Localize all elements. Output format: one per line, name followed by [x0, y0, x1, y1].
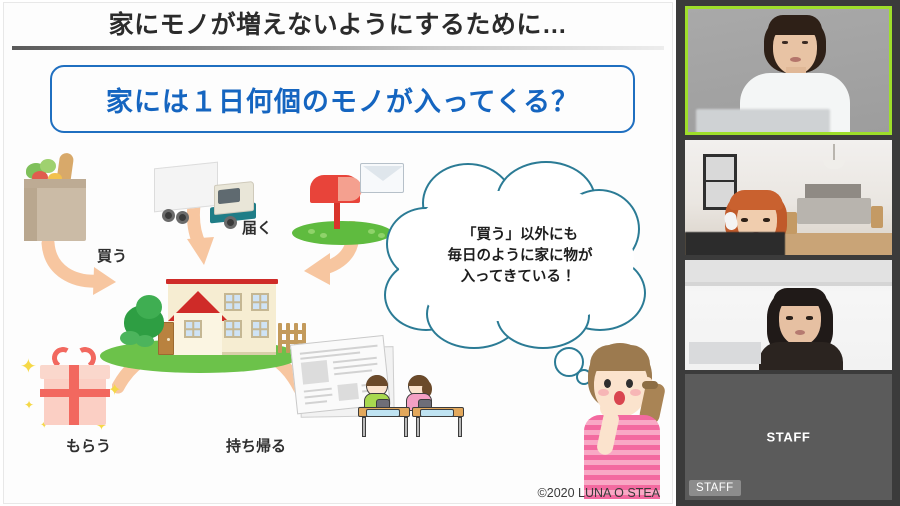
- tile-4-center-label: STAFF: [685, 430, 892, 445]
- label-bring-home: 持ち帰る: [226, 435, 286, 456]
- participant-video-panel: STAFF STAFF: [676, 0, 900, 506]
- gift-box-illustration: ✦ ✦ ✦ ✦ ✦: [20, 343, 130, 437]
- tile-3-person-body: [759, 342, 843, 370]
- shared-slide: 家にモノが増えないようにするために… 家には１日何個のモノが入ってくる？: [0, 0, 676, 506]
- title-divider: [12, 46, 664, 50]
- screen-share-meeting-view: 家にモノが増えないようにするために… 家には１日何個のモノが入ってくる？: [0, 0, 900, 506]
- thinking-woman-illustration: [574, 339, 670, 499]
- tile-1-person-bangs: [768, 15, 822, 35]
- video-tile-4[interactable]: STAFF STAFF: [685, 374, 892, 500]
- label-receive: もらう: [66, 435, 111, 456]
- tile-2-laptop: [685, 232, 785, 255]
- tile-2-person-bangs: [729, 190, 783, 210]
- question-text: 家には１日何個のモノが入ってくる？: [106, 80, 579, 119]
- diagram-stage: ✦ ✦ ✦ ✦ ✦: [4, 139, 673, 504]
- label-buy: 買う: [97, 245, 127, 266]
- tile-3-laptop: [689, 342, 761, 364]
- bubble-line-2: 毎日のように家に物が: [420, 246, 620, 267]
- mailbox-illustration: [286, 163, 396, 247]
- slide-title: 家にモノが増えないようにするために…: [4, 7, 672, 43]
- video-tile-2[interactable]: [685, 140, 892, 255]
- video-tile-1[interactable]: [685, 6, 892, 135]
- grocery-bag-illustration: [16, 149, 96, 245]
- video-tile-3[interactable]: [685, 260, 892, 370]
- tile-4-name-label: STAFF: [689, 480, 741, 496]
- tile-3-person-bangs: [773, 288, 827, 306]
- label-deliver: 届く: [242, 217, 272, 238]
- question-callout-box: 家には１日何個のモノが入ってくる？: [50, 65, 635, 133]
- bubble-line-1: 「買う」以外にも: [420, 225, 620, 246]
- bubble-line-3: 入ってきている ！: [420, 267, 620, 288]
- bubble-text: 「買う」以外にも 毎日のように家に物が 入ってきている ！: [420, 225, 620, 288]
- slide-canvas: 家にモノが増えないようにするために… 家には１日何個のモノが入ってくる？: [3, 2, 673, 504]
- copyright-notice: ©2020 LUNA O STEA: [4, 486, 672, 500]
- tile-1-laptop: [696, 109, 830, 135]
